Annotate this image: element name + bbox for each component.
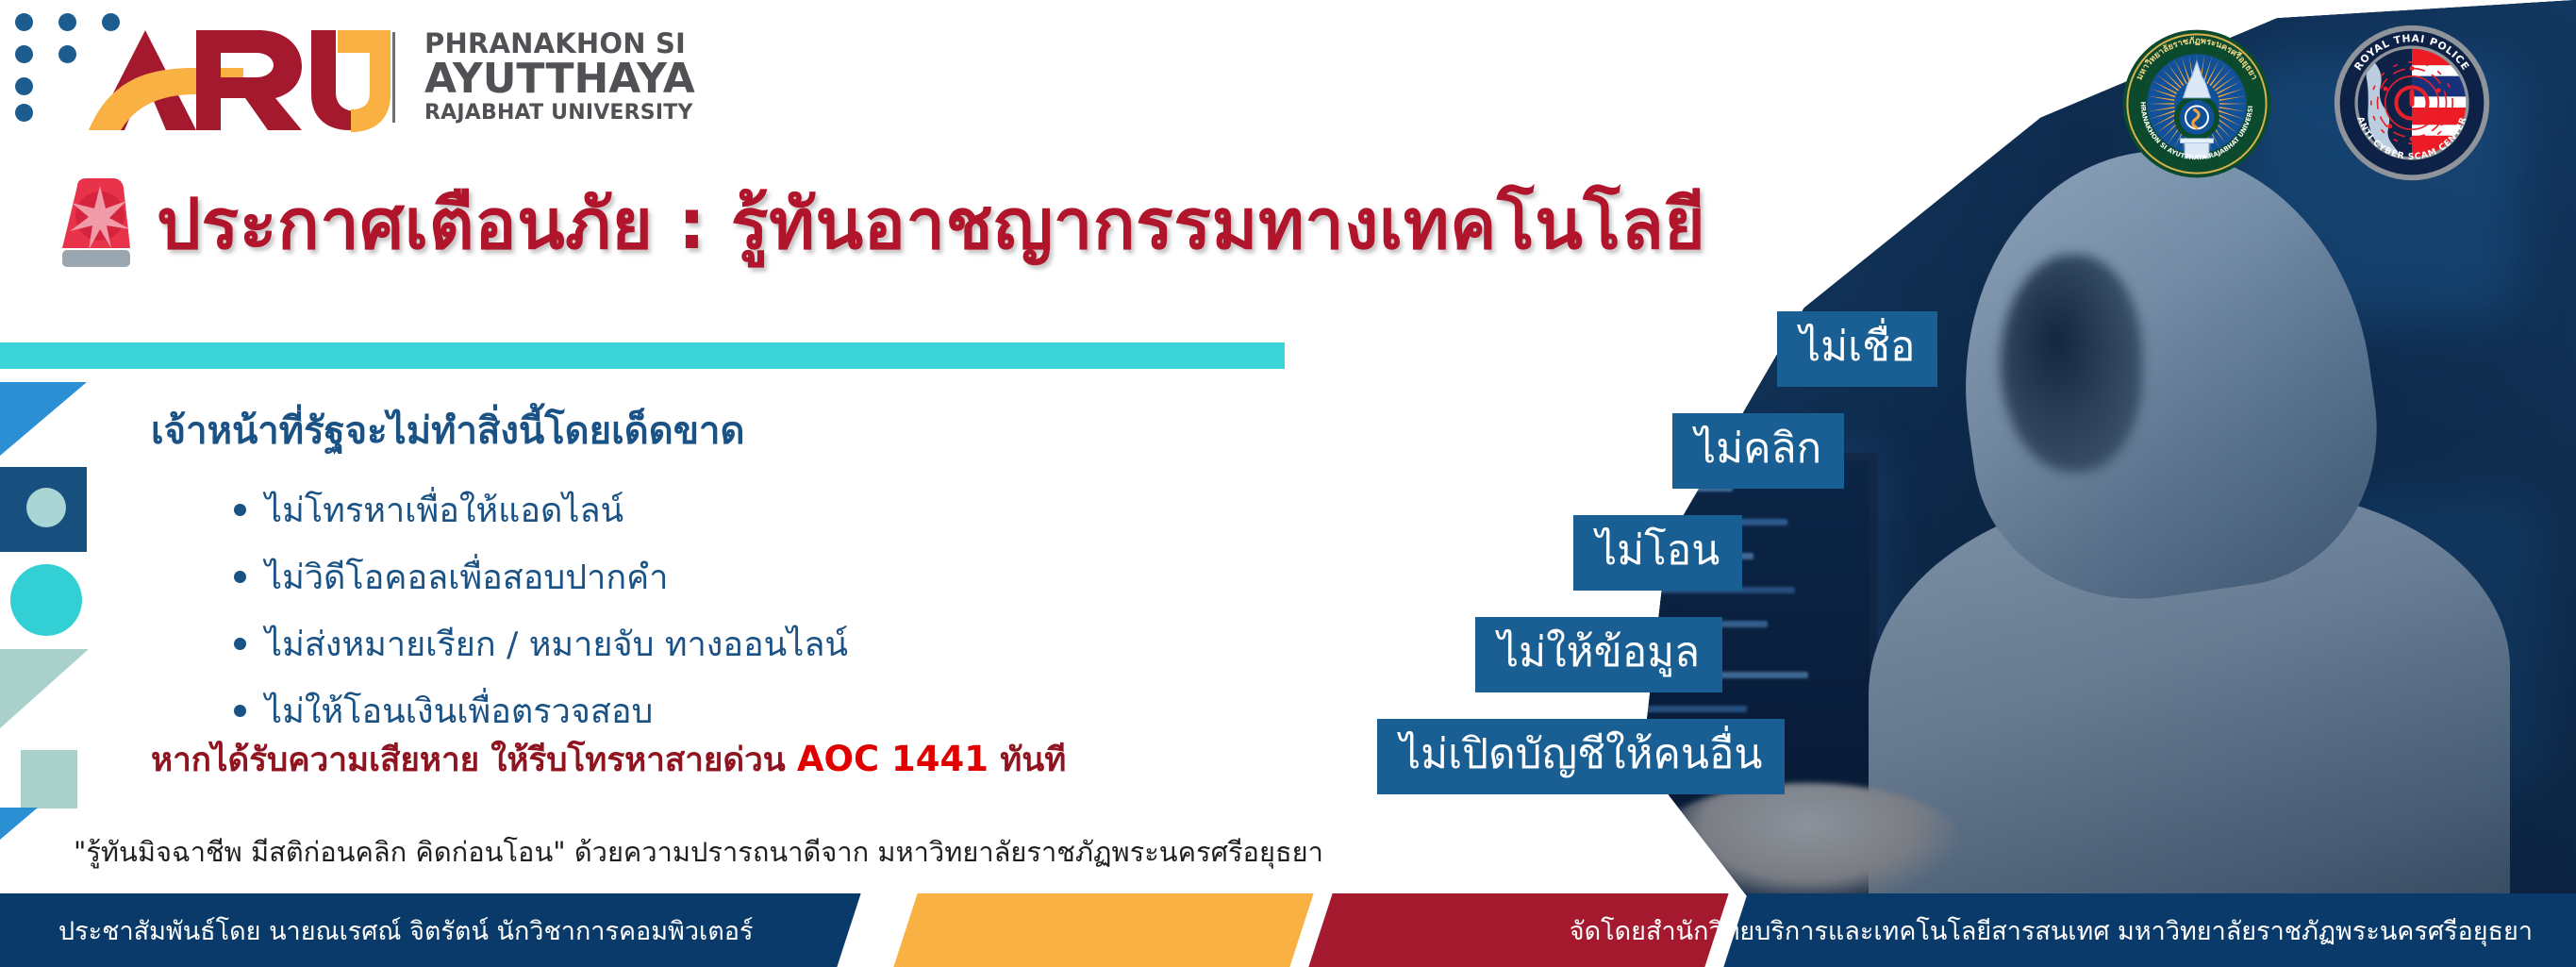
banner-label-no-believe: ไม่เชื่อ: [1777, 311, 1937, 387]
list-item: ไม่ให้โอนเงินเพื่อตรวจสอบ: [234, 684, 848, 738]
mint-circle-inset: [26, 488, 66, 527]
footer-credit-left: ประชาสัมพันธ์โดย นายณเรศณ์ จิตรัตน์ นักว…: [58, 893, 753, 967]
small-blue-triangle-shape: [0, 808, 38, 840]
photo-light-blob: [1472, 311, 1680, 453]
banner-label-no-transfer: ไม่โอน: [1573, 515, 1742, 591]
logo-wordmark: PHRANAKHON SI AYUTTHAYA RAJABHAT UNIVERS…: [424, 30, 695, 124]
hotline-suffix: ทันที: [989, 742, 1066, 779]
teal-divider-bar: [0, 342, 1285, 369]
page-headline: ประกาศเตือนภัย : รู้ทันอาชญากรรมทางเทคโน…: [157, 168, 1705, 279]
footer-credit-right: จัดโดยสำนักวิทยบริการและเทคโนโลยีสารสนเท…: [1570, 893, 2533, 967]
banner-label-no-click: ไม่คลิก: [1672, 413, 1844, 489]
warning-bullet-list: ไม่โทรหาเพื่อให้แอดไลน์ ไม่วิดีโอคอลเพื่…: [234, 483, 848, 751]
hotline-number[interactable]: AOC 1441: [797, 739, 989, 779]
logo-line-3: RAJABHAT UNIVERSITY: [424, 103, 695, 124]
mint-triangle-shape: [0, 649, 89, 728]
siren-alarm-icon: [57, 176, 136, 271]
bullet-dot-icon: [234, 504, 246, 516]
list-item-label: ไม่วิดีโอคอลเพื่อสอบปากคำ: [265, 550, 668, 604]
footer-band-orange: [893, 893, 1313, 967]
bullet-dot-icon: [234, 571, 246, 583]
list-item-label: ไม่โทรหาเพื่อให้แอดไลน์: [265, 483, 623, 537]
logo-divider: [392, 32, 395, 123]
list-item: ไม่วิดีโอคอลเพื่อสอบปากคำ: [234, 550, 848, 604]
headline-row: ประกาศเตือนภัย : รู้ทันอาชญากรรมทางเทคโน…: [57, 168, 1705, 279]
blue-triangle-shape: [0, 382, 87, 456]
banner-label-no-open-account: ไม่เปิดบัญชีให้คนอื่น: [1377, 719, 1785, 794]
aru-monogram-icon: [55, 25, 394, 136]
hotline-line: หากได้รับความเสียหาย ให้รีบโทรหาสายด่วน …: [151, 734, 1066, 786]
bullet-dot-icon: [234, 705, 246, 717]
banner-label-no-share-info: ไม่ให้ข้อมูล: [1475, 617, 1722, 692]
closing-quote: "รู้ทันมิจฉาชีพ มีสติก่อนคลิก คิดก่อนโอน…: [74, 830, 1323, 874]
list-item-label: ไม่ให้โอนเงินเพื่อตรวจสอบ: [265, 684, 653, 738]
logo-line-1: PHRANAKHON SI: [424, 30, 695, 58]
hotline-prefix: หากได้รับความเสียหาย ให้รีบโทรหาสายด่วน: [151, 742, 797, 779]
mint-square-shape: [21, 750, 77, 809]
subheading: เจ้าหน้าที่รัฐจะไม่ทำสิ่งนี้โดยเด็ดขาด: [151, 400, 745, 460]
navy-square-shape: [0, 467, 87, 552]
list-item-label: ไม่ส่งหมายเรียก / หมายจับ ทางออนไลน์: [265, 617, 848, 671]
list-item: ไม่โทรหาเพื่อให้แอดไลน์: [234, 483, 848, 537]
aru-logo: PHRANAKHON SI AYUTTHAYA RAJABHAT UNIVERS…: [55, 25, 677, 136]
bullet-dot-icon: [234, 638, 246, 650]
royal-thai-police-seal: ROYAL THAI POLICE ANTI CYBER SCAM CENTER: [2334, 25, 2490, 181]
teal-circle-shape: [10, 564, 82, 636]
list-item: ไม่ส่งหมายเรียก / หมายจับ ทางออนไลน์: [234, 617, 848, 671]
logo-line-2: AYUTTHAYA: [424, 58, 695, 100]
footer-bar: ประชาสัมพันธ์โดย นายณเรศณ์ จิตรัตน์ นักว…: [0, 893, 2576, 967]
aru-university-seal: มหาวิทยาลัยราชภัฏพระนครศรีอยุธยา PHRANAK…: [2121, 28, 2272, 179]
